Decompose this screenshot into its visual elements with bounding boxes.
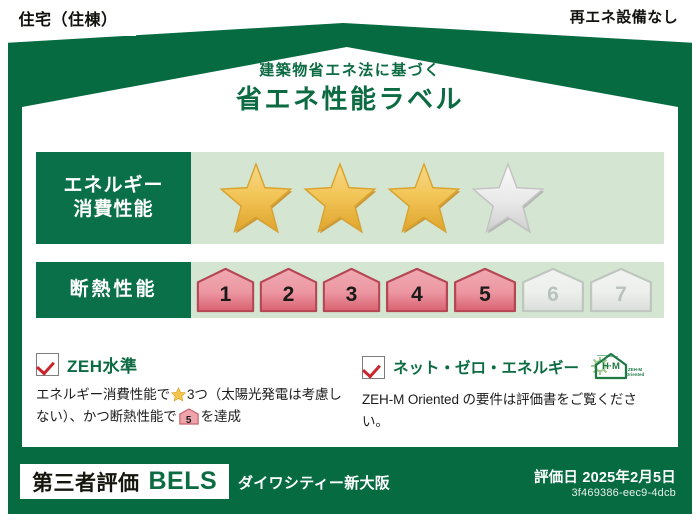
insulation-row-label: 断熱性能 (36, 262, 191, 318)
bels-en-label: BELS (149, 467, 218, 496)
insulation-row-body: 1234567 (191, 262, 664, 318)
checkmark-icon (362, 356, 385, 379)
insulation-level-number: 4 (384, 283, 450, 307)
zeh-desc-part3: を達成 (201, 409, 241, 424)
insulation-level-4: 4 (384, 266, 450, 314)
building-name: ダイワシティー新大阪 (238, 472, 390, 493)
title-block: 建築物省エネ法に基づく 省エネ性能ラベル (0, 62, 700, 115)
insulation-level-number: 3 (321, 283, 382, 307)
insulation-level-number: 5 (452, 283, 518, 307)
svg-text:ZEH-M: ZEH-M (628, 367, 642, 372)
star-rating (191, 161, 547, 235)
energy-row-label: エネルギー 消費性能 (36, 152, 191, 244)
insulation-level-number: 1 (195, 283, 256, 307)
insulation-level-1: 1 (195, 266, 256, 314)
insulation-level-2: 2 (258, 266, 319, 314)
title-subtitle: 建築物省エネ法に基づく (0, 62, 700, 80)
energy-performance-row: エネルギー 消費性能 (36, 152, 664, 244)
insulation-level-number: 6 (520, 283, 586, 307)
zeh-heading: ZEH水準 (36, 352, 346, 377)
insulation-level-6: 6 (520, 266, 586, 314)
insulation-level-3: 3 (321, 266, 382, 314)
evaluation-id: 3f469386-eec9-4dcb (571, 487, 676, 499)
insulation-badge-value: 5 (179, 413, 199, 429)
zeh-standard-section: ZEH水準 エネルギー消費性能で3つ（太陽光発電は考慮しない）、かつ断熱性能で5… (36, 352, 346, 428)
star-icon-filled (385, 161, 463, 235)
energy-label-line1: エネルギー (63, 174, 163, 198)
checkmark-icon (36, 353, 59, 376)
energy-performance-label: 住宅（住棟） 再エネ設備なし 建築物省エネ法に基づく 省エネ性能ラベル エネルギ… (0, 0, 700, 522)
page-title: 省エネ性能ラベル (0, 84, 700, 115)
star-icon-filled (301, 161, 379, 235)
bels-jp-label: 第三者評価 (32, 467, 140, 497)
energy-row-body (191, 152, 664, 244)
zeh-description: エネルギー消費性能で3つ（太陽光発電は考慮しない）、かつ断熱性能で5を達成 (36, 384, 346, 428)
insulation-performance-row: 断熱性能 1234567 (36, 262, 664, 318)
net-zero-description: ZEH-M Oriented の要件は評価書をご覧ください。 (362, 389, 662, 433)
renewable-equipment-tag: 再エネ設備なし (548, 0, 700, 32)
zeh-m-oriented-logo-icon: H·M ZEH-M Oriented (589, 352, 645, 382)
energy-label-line2: 消費性能 (73, 198, 153, 222)
evaluation-date: 評価日 2025年2月5日 (534, 466, 676, 487)
insulation-level-number: 2 (258, 283, 319, 307)
bels-badge: 第三者評価 BELS (20, 464, 229, 499)
star-icon-filled (217, 161, 295, 235)
insulation-level-number: 7 (588, 283, 654, 307)
insulation-level-5: 5 (452, 266, 518, 314)
net-zero-heading: ネット・ゼロ・エネルギー (362, 352, 662, 382)
star-icon-empty (469, 161, 547, 235)
star-icon (171, 387, 186, 402)
net-zero-energy-section: ネット・ゼロ・エネルギー (362, 352, 662, 433)
insulation-level-7: 7 (588, 266, 654, 314)
svg-text:H·M: H·M (602, 361, 620, 372)
net-zero-title: ネット・ゼロ・エネルギー (393, 356, 579, 378)
insulation-badge-icon: 5 (179, 408, 199, 425)
building-type-tag: 住宅（住棟） (0, 0, 136, 36)
zeh-desc-part1: エネルギー消費性能で (36, 387, 170, 402)
svg-text:Oriented: Oriented (626, 372, 645, 377)
zeh-title: ZEH水準 (67, 352, 138, 377)
insulation-level-scale: 1234567 (191, 266, 654, 314)
footer: 第三者評価 BELS ダイワシティー新大阪 評価日 2025年2月5日 3f46… (8, 458, 692, 514)
